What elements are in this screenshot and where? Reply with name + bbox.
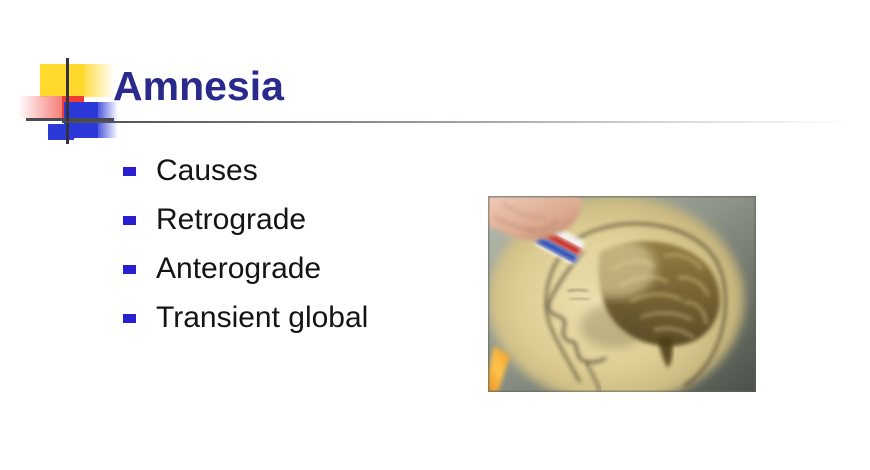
motif-vertical-line xyxy=(66,58,69,144)
picture-graphic xyxy=(488,196,756,392)
square-bullet-icon xyxy=(123,314,136,323)
motif-blue-tab xyxy=(48,124,74,140)
square-bullet-icon xyxy=(123,216,136,225)
slide-title-area: Amnesia xyxy=(0,52,870,142)
bullet-list: Causes Retrograde Anterograde Transient … xyxy=(120,146,480,342)
list-item-label: Retrograde xyxy=(156,202,306,238)
list-item-label: Causes xyxy=(156,153,258,189)
list-item: Retrograde xyxy=(120,195,480,244)
page-title: Amnesia xyxy=(113,60,284,112)
square-bullet-icon xyxy=(123,167,136,176)
eraser-erasing-brain-illustration xyxy=(488,196,756,392)
powerpoint-blocks-motif-icon xyxy=(18,58,118,144)
list-item-label: Anterograde xyxy=(156,251,321,287)
list-item: Causes xyxy=(120,146,480,195)
list-item: Transient global xyxy=(120,293,480,342)
slide: Amnesia Causes Retrograde Anterograde Tr… xyxy=(0,0,870,470)
motif-yellow-gradient xyxy=(80,64,114,97)
list-item: Anterograde xyxy=(120,244,480,293)
title-divider xyxy=(62,121,852,123)
square-bullet-icon xyxy=(123,265,136,274)
motif-yellow-square xyxy=(40,64,84,97)
list-item-label: Transient global xyxy=(156,300,368,336)
